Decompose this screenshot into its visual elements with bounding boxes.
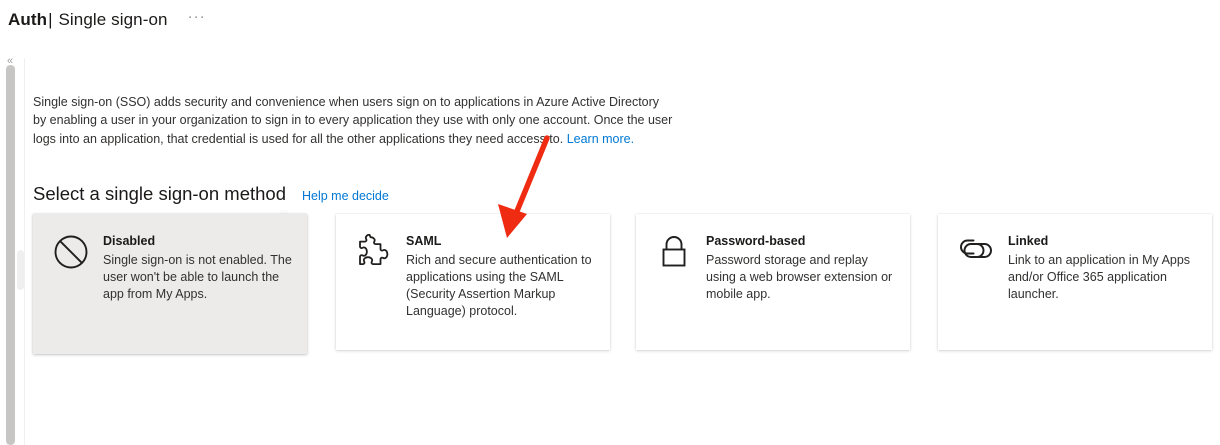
method-card-description: Rich and secure authentication to applic… (406, 252, 596, 320)
method-card-title: SAML (406, 233, 596, 250)
puzzle-piece-icon (350, 232, 398, 278)
secondary-scrollbar-thumb[interactable] (17, 250, 24, 290)
method-card-description: Link to an application in My Apps and/or… (1008, 252, 1198, 303)
vertical-scrollbar-thumb[interactable] (6, 65, 15, 445)
method-card-title: Disabled (103, 233, 293, 250)
method-card-description: Password storage and replay using a web … (706, 252, 896, 303)
learn-more-link[interactable]: Learn more. (567, 132, 634, 146)
page-title: Auth| Single sign-on (8, 9, 168, 31)
method-card-body: Disabled Single sign-on is not enabled. … (95, 232, 293, 354)
method-card-linked[interactable]: Linked Link to an application in My Apps… (938, 214, 1212, 350)
method-card-password-based[interactable]: Password-based Password storage and repl… (636, 214, 910, 350)
method-card-disabled[interactable]: Disabled Single sign-on is not enabled. … (33, 214, 307, 354)
method-section-header: Select a single sign-on method Help me d… (33, 168, 389, 221)
padlock-icon (650, 232, 698, 278)
page-header: Auth| Single sign-on ··· (0, 0, 1220, 40)
method-card-body: Password-based Password storage and repl… (698, 232, 896, 350)
help-me-decide-link[interactable]: Help me decide (302, 189, 389, 203)
panel-divider (24, 58, 25, 445)
method-card-title: Password-based (706, 233, 896, 250)
main-content: Single sign-on (SSO) adds security and c… (33, 58, 1220, 445)
section-title: Select a single sign-on method (33, 183, 286, 205)
ellipsis-icon[interactable]: ··· (184, 10, 210, 30)
method-card-description: Single sign-on is not enabled. The user … (103, 252, 293, 303)
page-title-section: Single sign-on (58, 10, 167, 29)
method-card-title: Linked (1008, 233, 1198, 250)
chain-link-icon (952, 232, 1000, 278)
page-title-separator: | (47, 10, 54, 29)
no-entry-icon (47, 232, 95, 278)
page-title-app: Auth (8, 10, 47, 29)
method-card-list: Disabled Single sign-on is not enabled. … (33, 214, 1220, 354)
sso-description: Single sign-on (SSO) adds security and c… (33, 93, 673, 149)
method-card-body: SAML Rich and secure authentication to a… (398, 232, 596, 350)
method-card-body: Linked Link to an application in My Apps… (1000, 232, 1198, 350)
method-card-saml[interactable]: SAML Rich and secure authentication to a… (336, 214, 610, 350)
